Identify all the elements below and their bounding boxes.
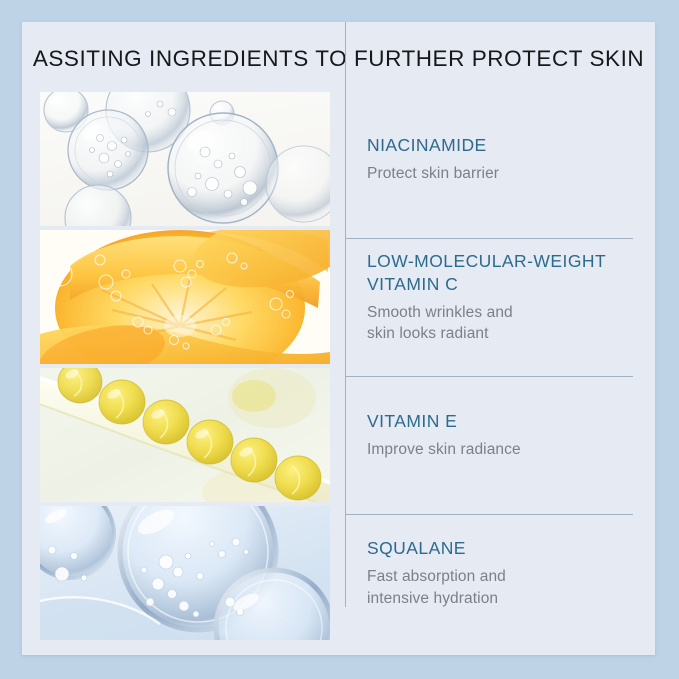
ingredient-text: SQUALANE Fast absorption and intensive h…	[367, 506, 639, 640]
ingredient-name: NIACINAMIDE	[367, 134, 639, 157]
clear-bubbles-photo	[40, 92, 330, 226]
list-item[interactable]: NIACINAMIDE Protect skin barrier	[22, 92, 655, 229]
ingredient-text: LOW-MOLECULAR-WEIGHT VITAMIN C Smooth wr…	[367, 230, 639, 364]
page-title: ASSITING INGREDIENTS TO FURTHER PROTECT …	[22, 46, 655, 72]
ingredient-description: Smooth wrinkles and skin looks radiant	[367, 302, 639, 344]
orange-citrus-slices-photo	[40, 230, 330, 364]
ingredient-name: LOW-MOLECULAR-WEIGHT VITAMIN C	[367, 250, 639, 297]
blue-gel-bubbles-photo	[40, 506, 330, 640]
ingredient-description: Improve skin radiance	[367, 439, 639, 460]
list-item[interactable]: VITAMIN E Improve skin radiance	[22, 368, 655, 505]
ingredient-list: NIACINAMIDE Protect skin barrier	[22, 92, 655, 644]
ingredient-text: VITAMIN E Improve skin radiance	[367, 368, 639, 502]
ingredient-description: Fast absorption and intensive hydration	[367, 566, 639, 608]
list-item[interactable]: SQUALANE Fast absorption and intensive h…	[22, 506, 655, 643]
ingredient-name: SQUALANE	[367, 537, 639, 560]
ingredient-name: VITAMIN E	[367, 410, 639, 433]
infographic-card: ASSITING INGREDIENTS TO FURTHER PROTECT …	[22, 22, 655, 655]
yellow-capsules-photo	[40, 368, 330, 502]
outer-frame: ASSITING INGREDIENTS TO FURTHER PROTECT …	[0, 0, 679, 679]
ingredient-text: NIACINAMIDE Protect skin barrier	[367, 92, 639, 226]
list-item[interactable]: LOW-MOLECULAR-WEIGHT VITAMIN C Smooth wr…	[22, 230, 655, 367]
ingredient-description: Protect skin barrier	[367, 163, 639, 184]
